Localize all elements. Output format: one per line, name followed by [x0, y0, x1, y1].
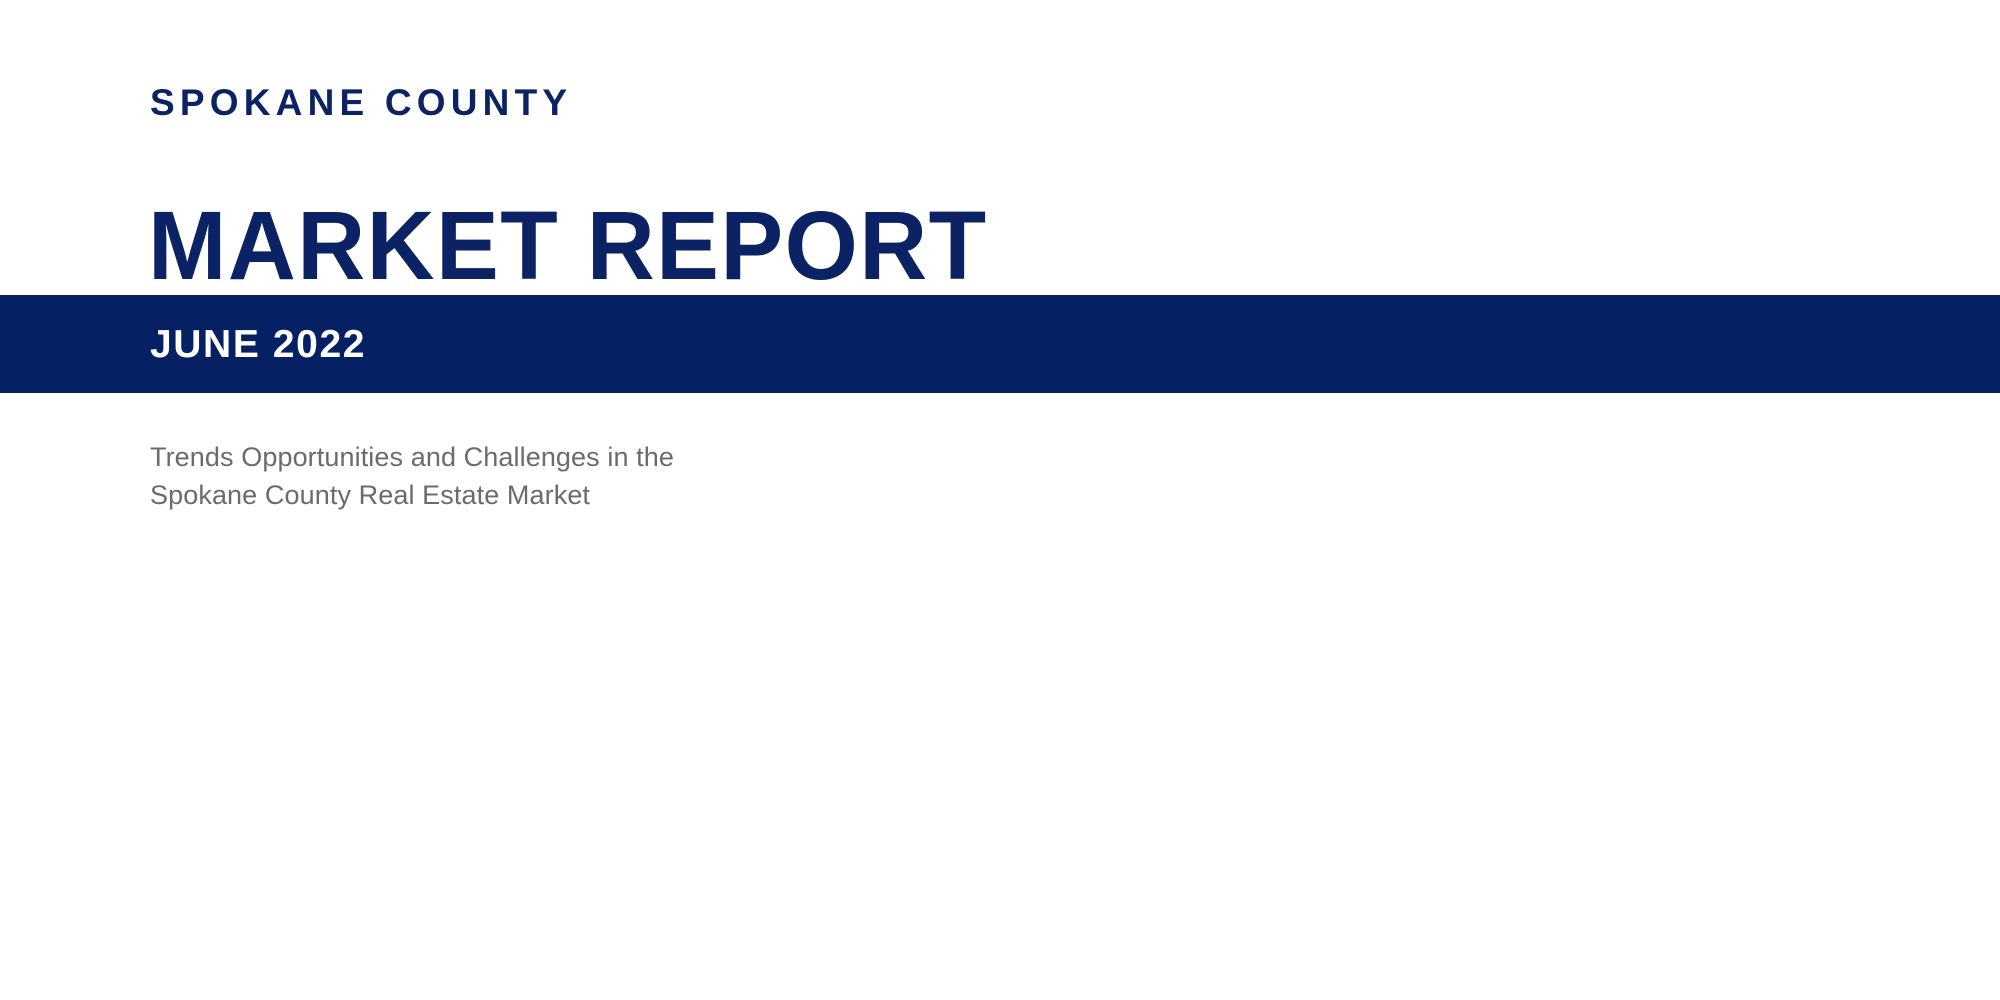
wave-line [0, 683, 2000, 958]
wave-line [0, 711, 2000, 988]
wave-line [0, 718, 2000, 996]
wave-line [0, 614, 2000, 882]
wave-line [0, 567, 2000, 828]
wave-line [0, 580, 2000, 843]
wave-line [0, 560, 2000, 720]
wave-line [0, 648, 2000, 920]
wave-line [0, 607, 2000, 874]
wave-line [0, 587, 2000, 851]
wave-line [0, 594, 2000, 859]
wave-line [0, 600, 2000, 866]
wave-line [0, 560, 2000, 734]
report-date-label: JUNE 2022 [150, 325, 366, 364]
wave-line [0, 560, 2000, 713]
wave-line [0, 560, 2000, 706]
wave-line [0, 560, 2000, 757]
wave-line [0, 655, 2000, 928]
wave-line [0, 560, 2000, 765]
subtitle-line-2: Spokane County Real Estate Market [150, 476, 910, 514]
wave-line [0, 662, 2000, 935]
wave-line [0, 560, 2000, 820]
wave-line [0, 754, 2000, 1000]
wave-line [0, 560, 2000, 749]
page-title: MARKET REPORT [148, 195, 988, 297]
wave-line [0, 635, 2000, 906]
wave-line [0, 560, 2000, 788]
wave-line [0, 560, 2000, 741]
wave-line [0, 733, 2000, 1000]
wave-line [0, 560, 2000, 796]
wave-line [0, 621, 2000, 890]
subtitle-line-1: Trends Opportunities and Challenges in t… [150, 438, 910, 476]
wave-line [0, 740, 2000, 1000]
eyebrow-county-label: SPOKANE COUNTY [150, 84, 572, 121]
wave-line [0, 560, 2000, 804]
wave-line [0, 573, 2000, 835]
wave-line [0, 669, 2000, 943]
wave-line [0, 560, 2000, 780]
flowing-wave-lines-graphic [0, 560, 2000, 1000]
wave-line [0, 676, 2000, 951]
wave-line [0, 628, 2000, 898]
wave-line [0, 697, 2000, 973]
wave-line [0, 560, 2000, 812]
wave-line [0, 761, 2000, 1000]
date-band: JUNE 2022 [0, 295, 2000, 393]
report-cover-page: SPOKANE COUNTY MARKET REPORT JUNE 2022 T… [0, 0, 2000, 1000]
wave-line [0, 747, 2000, 1000]
wave-line [0, 726, 2000, 1000]
wave-line [0, 704, 2000, 981]
wave-line [0, 690, 2000, 966]
wave-line [0, 560, 2000, 727]
wave-line [0, 642, 2000, 913]
wave-line [0, 560, 2000, 699]
wave-line [0, 560, 2000, 773]
subtitle: Trends Opportunities and Challenges in t… [150, 438, 910, 515]
